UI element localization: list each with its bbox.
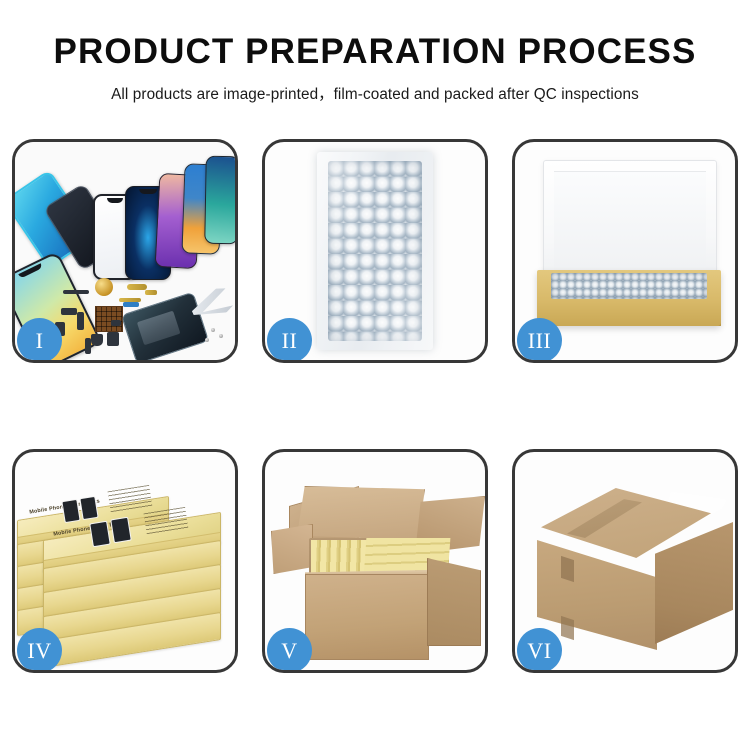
vibration-motor-part xyxy=(95,278,113,296)
spare-part xyxy=(61,308,77,315)
carton-side-face xyxy=(427,558,481,646)
step-badge-4: IV xyxy=(17,628,62,673)
spare-part xyxy=(119,298,141,302)
carton-seam-upper xyxy=(561,556,574,582)
carton-front-face xyxy=(305,574,429,660)
spare-part xyxy=(123,302,139,307)
spare-part xyxy=(127,284,147,290)
plastic-sheen xyxy=(317,152,433,350)
page-header: PRODUCT PREPARATION PROCESS All products… xyxy=(0,0,750,104)
spare-part xyxy=(77,312,84,330)
bubble-wrapped-contents xyxy=(551,273,707,299)
screw-part xyxy=(219,334,223,338)
box-product-image xyxy=(79,496,98,520)
spare-part xyxy=(145,290,157,295)
page-subtitle: All products are image-printed，film-coat… xyxy=(0,82,750,104)
spare-part xyxy=(63,290,89,294)
box-product-image xyxy=(110,517,132,544)
process-step-panel-1: I xyxy=(12,139,238,363)
box-product-image xyxy=(89,521,111,548)
step-badge-3: III xyxy=(517,318,562,363)
process-step-panel-4: Mobile Phone Spare Parts Mobile Phone Sp… xyxy=(12,449,238,673)
carton-flap-back xyxy=(297,486,425,540)
page-title: PRODUCT PREPARATION PROCESS xyxy=(0,34,750,69)
spare-part xyxy=(111,320,121,326)
spare-part xyxy=(91,334,103,346)
process-step-panel-5: V xyxy=(262,449,488,673)
screen-notch xyxy=(139,189,157,194)
phone-screen-teal xyxy=(204,156,235,245)
spare-part xyxy=(85,338,91,354)
carton-side-face xyxy=(655,522,733,644)
screw-part xyxy=(211,328,215,332)
step-badge-2: II xyxy=(267,318,312,363)
process-steps-grid: I II III xyxy=(12,139,738,673)
chip-grid-part xyxy=(95,306,123,332)
step-badge-5: V xyxy=(267,628,312,673)
step-badge-1: I xyxy=(17,318,62,363)
box-product-image xyxy=(61,499,80,523)
carton-flap-left xyxy=(271,524,313,574)
spare-part xyxy=(107,332,119,346)
process-step-panel-3: III xyxy=(512,139,738,363)
process-step-panel-2: II xyxy=(262,139,488,363)
step-badge-6: VI xyxy=(517,628,562,673)
carton-seam-lower xyxy=(561,616,574,640)
process-step-panel-6: VI xyxy=(512,449,738,673)
bubble-wrap-pouch xyxy=(317,152,433,350)
screw-part xyxy=(205,338,209,342)
screen-notch xyxy=(107,198,123,203)
